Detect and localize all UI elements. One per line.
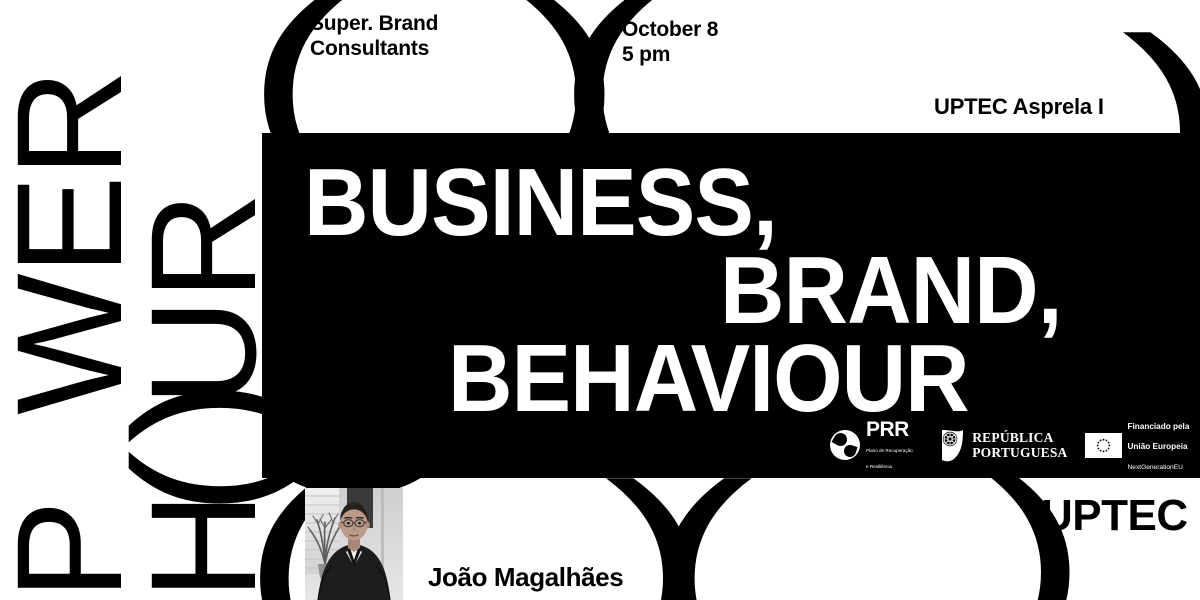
title-line-1: BUSINESS, [304,155,777,251]
title-block: BUSINESS, BRAND, BEHAVIOUR PRR Plano de … [262,133,1200,478]
datetime-label: October 8 5 pm [622,18,718,68]
eu-flag-icon [1085,433,1122,458]
paren-open-icon: ( [646,452,753,600]
prr-subtitle: Plano de Recuperação e Resiliência [866,448,913,469]
portugal-shield-icon [939,429,966,462]
logo-next-generation-eu: Financiado pela União Europeia NextGener… [1085,415,1200,475]
uptec-wordmark: UPTEC [1041,491,1188,541]
event-poster: P()WER H()UR ( ) ( ) Super. Brand Consul… [0,0,1200,600]
venue-label: UPTEC Asprela I [934,94,1104,120]
eu-funding-label: Financiado pela União Europeia [1128,422,1190,451]
title-line-3: BEHAVIOUR [448,331,969,427]
logo-prr: PRR Plano de Recuperação e Resiliência [830,419,922,472]
speaker-name: João Magalhães [428,562,623,593]
eu-programme-label: NextGenerationEU [1128,464,1183,471]
prr-name: PRR [866,418,909,441]
organiser-label: Super. Brand Consultants [310,12,438,62]
prr-circle-icon [830,430,860,460]
speaker-portrait [305,488,403,600]
